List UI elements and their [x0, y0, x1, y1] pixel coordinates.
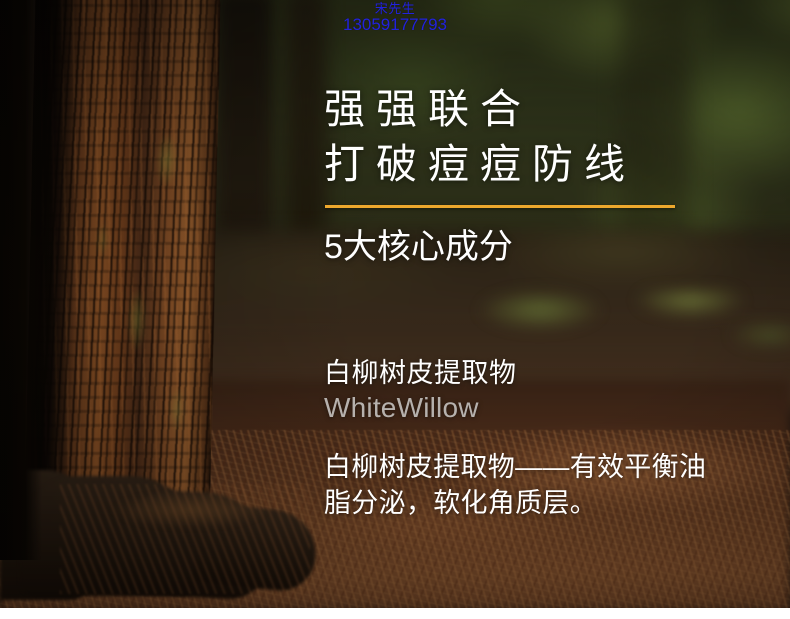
- ingredient-description: 白柳树皮提取物——有效平衡油脂分泌，软化角质层。: [324, 449, 724, 521]
- seller-watermark: 宋先生 13059177793: [0, 2, 790, 33]
- headline-line-1: 强强联合: [324, 82, 636, 137]
- ingredient-title-block: 白柳树皮提取物 WhiteWillow: [324, 356, 517, 426]
- ingredient-name-english: WhiteWillow: [324, 390, 517, 426]
- bottom-white-strip: [0, 608, 790, 619]
- ingredient-name-chinese: 白柳树皮提取物: [324, 356, 517, 390]
- orange-divider-rule: [325, 205, 675, 208]
- headline-line-2: 打破痘痘防线: [324, 137, 636, 192]
- watermark-phone: 13059177793: [0, 16, 790, 33]
- watermark-name: 宋先生: [0, 2, 790, 15]
- headline: 强强联合 打破痘痘防线: [324, 82, 636, 192]
- section-subtitle: 5大核心成分: [324, 226, 513, 268]
- product-ingredient-poster: 宋先生 13059177793 强强联合 打破痘痘防线 5大核心成分 白柳树皮提…: [0, 0, 790, 619]
